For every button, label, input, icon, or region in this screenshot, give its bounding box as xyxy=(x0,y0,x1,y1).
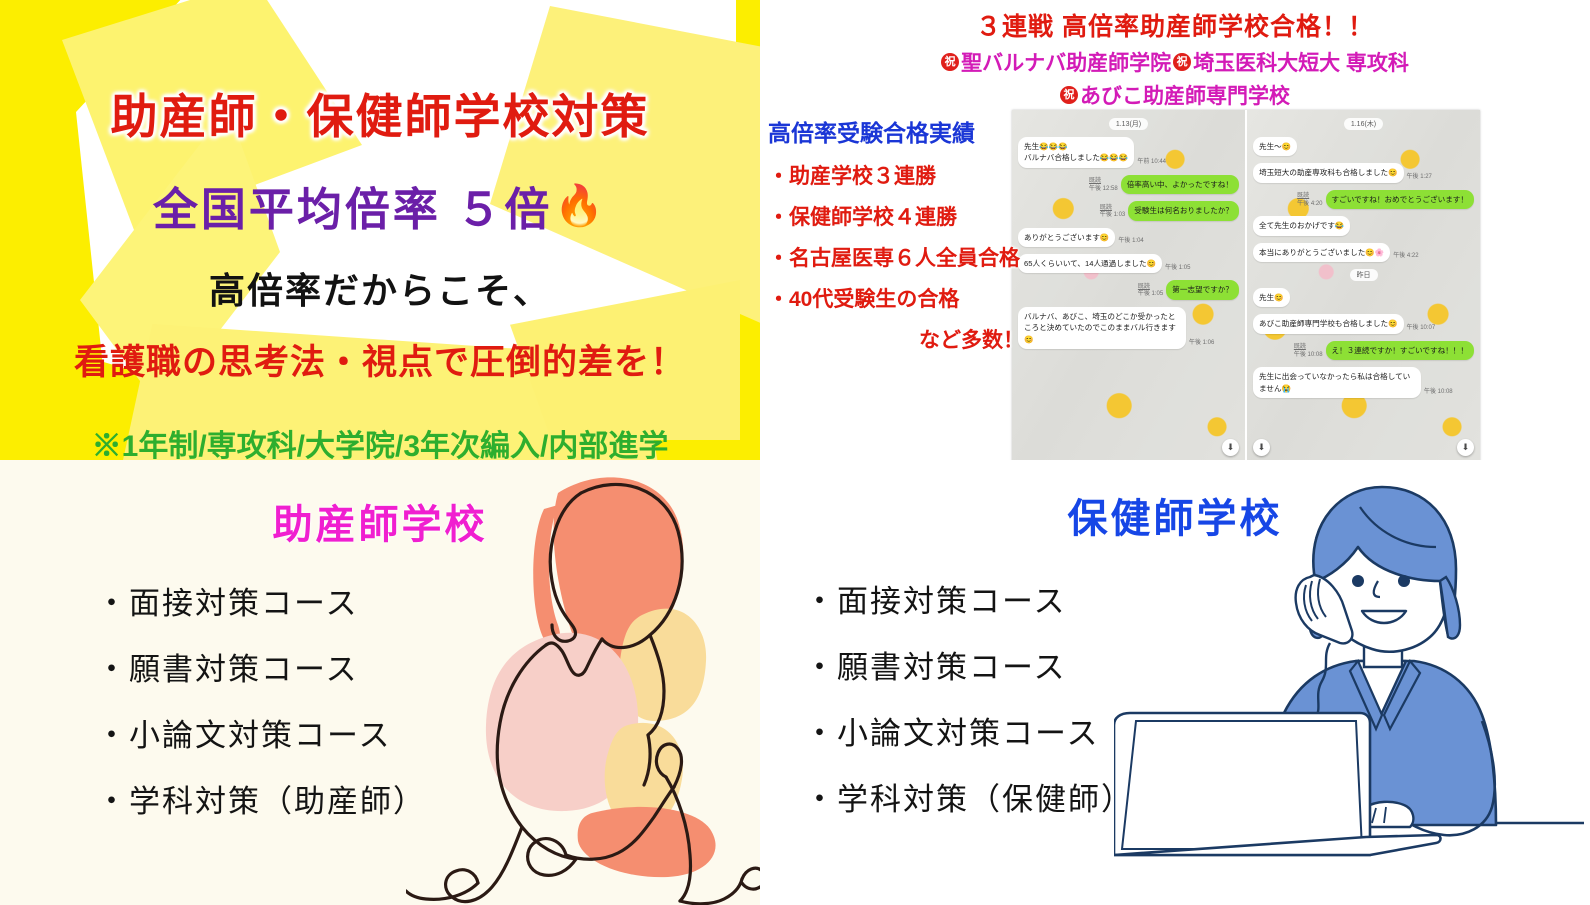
celebration-badge-icon: 祝 xyxy=(1060,86,1078,104)
chat-date-chip: 1.16(木) xyxy=(1344,118,1383,130)
chat-bubble-incoming: 先生〜😊 xyxy=(1253,137,1297,156)
chat-timestamp: 午後 1:04 xyxy=(1118,238,1143,247)
chat-bubble-incoming: 全て先生のおかげです😂 xyxy=(1253,216,1350,235)
nurse-course-list: ・面接対策コース ・願書対策コース ・小論文対策コース ・学科対策（保健師） xyxy=(760,576,1590,819)
chat-timestamp: 午後 10:07 xyxy=(1407,325,1436,334)
hero-rate-text: 全国平均倍率 ５倍 xyxy=(153,173,553,238)
chat-row: 既読 午後 1:05 第一志望ですか？ xyxy=(1018,280,1239,299)
midwife-course-list: ・面接対策コース ・願書対策コース ・小論文対策コース ・学科対策（助産師） xyxy=(0,578,760,821)
chat-meta: 既読 午後 1:03 xyxy=(1100,205,1125,221)
chat-timestamp: 午後 1:06 xyxy=(1189,340,1214,349)
chat-panel-right[interactable]: 1.16(木) 先生〜😊 埼玉短大の助産専攻科も合格しました😊 午後 1:27 … xyxy=(1247,110,1480,460)
read-receipt: 既読 xyxy=(1297,193,1322,201)
chat-timestamp: 午前 10:44 xyxy=(1137,159,1166,168)
poster-root: 助産師・保健師学校対策 全国平均倍率 ５倍 🔥 高倍率だからこそ、 看護職の思考… xyxy=(0,0,1590,905)
chat-timestamp: 午後 10:08 xyxy=(1424,389,1453,398)
chat-row: 既読 午後 10:08 え！３連続ですか！すごいですね！！！ xyxy=(1253,341,1474,360)
chat-bubble-outgoing: 倍率高い中、よかったですね！ xyxy=(1121,175,1239,194)
chat-row: 既読 午後 4:20 すごいですね！おめでとうございます！ xyxy=(1253,190,1474,209)
list-item: ・願書対策コース xyxy=(96,644,760,689)
scroll-down-icon[interactable]: ⬇ xyxy=(1253,439,1270,456)
nurse-panel: 保健師学校 ・面接対策コース ・願書対策コース ・小論文対策コース ・学科対策（… xyxy=(760,460,1590,905)
midwife-panel: 助産師学校 ・面接対策コース ・願書対策コース ・小論文対策コース ・学科対策（… xyxy=(0,460,760,905)
achievements-title: 高倍率受験合格実績 xyxy=(768,114,1030,148)
chat-meta: 既読 午後 4:20 xyxy=(1297,193,1322,209)
chat-row: 本当にありがとうございました😊🌸 午後 4:22 xyxy=(1253,243,1474,262)
chat-bubble-incoming: 先生に出会っていなかったら私は合格していません😭 xyxy=(1253,367,1421,398)
chat-row: 先生〜😊 xyxy=(1253,137,1474,156)
chat-date-chip: 昨日 xyxy=(1350,269,1378,281)
results-achievements: 高倍率受験合格実績 ・助産学校３連勝 ・保健師学校４連勝 ・名古屋医専６人全員合… xyxy=(768,114,1030,354)
chat-bubble-incoming: ありがとうございます😊 xyxy=(1018,228,1115,247)
chat-message-list-right: 1.16(木) 先生〜😊 埼玉短大の助産専攻科も合格しました😊 午後 1:27 … xyxy=(1247,110,1480,398)
achievements-list: ・助産学校３連勝 ・保健師学校４連勝 ・名古屋医専６人全員合格 ・40代受験生の… xyxy=(768,160,1030,313)
chat-timestamp: 午後 12:58 xyxy=(1089,186,1118,192)
midwife-panel-title: 助産師学校 xyxy=(0,460,760,550)
chat-timestamp: 午後 1:27 xyxy=(1407,174,1432,183)
achievements-more: など多数！ xyxy=(768,324,1030,354)
list-item: ・保健師学校４連勝 xyxy=(768,201,1030,231)
chat-date-chip: 1.13(月) xyxy=(1109,118,1148,130)
chat-screenshots: 1.13(月) 先生😂😂😂バルナバ合格しました😂😂😂 午前 10:44 既読 午… xyxy=(1012,110,1480,460)
scroll-down-icon[interactable]: ⬇ xyxy=(1222,439,1239,456)
results-body: 高倍率受験合格実績 ・助産学校３連勝 ・保健師学校４連勝 ・名古屋医専６人全員合… xyxy=(760,104,1590,456)
list-item: ・小論文対策コース xyxy=(804,708,1590,753)
read-receipt: 既読 xyxy=(1100,205,1125,213)
hero-content: 助産師・保健師学校対策 全国平均倍率 ５倍 🔥 高倍率だからこそ、 看護職の思考… xyxy=(0,0,760,460)
chat-row: 先生😊 xyxy=(1253,288,1474,307)
celebration-badge-icon: 祝 xyxy=(941,53,959,71)
chat-bubble-incoming: 先生😊 xyxy=(1253,288,1290,307)
chat-row: 先生に出会っていなかったら私は合格していません😭 午後 10:08 xyxy=(1253,367,1474,398)
list-item: ・助産学校３連勝 xyxy=(768,160,1030,190)
chat-timestamp: 午後 1:05 xyxy=(1165,265,1190,274)
chat-meta: 既読 午後 1:05 xyxy=(1138,284,1163,300)
chat-bubble-incoming: 本当にありがとうございました😊🌸 xyxy=(1253,243,1390,262)
chat-bubble-outgoing: 第一志望ですか？ xyxy=(1166,280,1239,299)
chat-row: 65人くらいいて、14人通過しました😊 午後 1:05 xyxy=(1018,254,1239,273)
read-receipt: 既読 xyxy=(1089,178,1118,186)
list-item: ・面接対策コース xyxy=(804,576,1590,621)
chat-timestamp: 午後 4:22 xyxy=(1393,253,1418,262)
fire-icon: 🔥 xyxy=(554,186,607,226)
results-headline: ３連戦 高倍率助産師学校合格！！ xyxy=(760,7,1590,43)
chat-bubble-incoming: 先生😂😂😂バルナバ合格しました😂😂😂 xyxy=(1018,137,1134,168)
chat-meta: 既読 午後 10:08 xyxy=(1294,344,1323,360)
hero-punchline: 看護職の思考法・視点で圧倒的差を！ xyxy=(26,334,734,385)
chat-timestamp: 午後 10:08 xyxy=(1294,352,1323,358)
chat-bubble-outgoing: 受験生は何名おりましたか？ xyxy=(1128,201,1239,220)
chat-bubble-incoming: バルナバ、あびこ、埼玉のどこか受かったところと決めていたのでこのままバル行きます… xyxy=(1018,307,1186,349)
chat-meta: 既読 午後 12:58 xyxy=(1089,178,1118,194)
school-name-barnabas: 聖バルナバ助産師学院 xyxy=(961,47,1171,77)
chat-timestamp: 午後 1:05 xyxy=(1138,291,1163,297)
chat-timestamp: 午後 4:20 xyxy=(1297,201,1322,207)
chat-row: 既読 午後 1:03 受験生は何名おりましたか？ xyxy=(1018,201,1239,220)
hero-rate: 全国平均倍率 ５倍 🔥 xyxy=(26,173,734,238)
chat-panel-left[interactable]: 1.13(月) 先生😂😂😂バルナバ合格しました😂😂😂 午前 10:44 既読 午… xyxy=(1012,110,1245,460)
chat-bubble-outgoing: すごいですね！おめでとうございます！ xyxy=(1326,190,1474,209)
results-schools-line-1: 祝 聖バルナバ助産師学院 祝 埼玉医科大短大 専攻科 xyxy=(760,47,1590,77)
chat-bubble-outgoing: え！３連続ですか！すごいですね！！！ xyxy=(1326,341,1474,360)
chat-bubble-incoming: 埼玉短大の助産専攻科も合格しました😊 xyxy=(1253,163,1404,182)
list-item: ・40代受験生の合格 xyxy=(768,283,1030,313)
chat-message-list-left: 1.13(月) 先生😂😂😂バルナバ合格しました😂😂😂 午前 10:44 既読 午… xyxy=(1012,110,1245,349)
chat-row: あびこ助産師専門学校も合格しました😊 午後 10:07 xyxy=(1253,314,1474,333)
chat-bubble-incoming: 65人くらいいて、14人通過しました😊 xyxy=(1018,254,1162,273)
list-item: ・願書対策コース xyxy=(804,642,1590,687)
celebration-badge-icon: 祝 xyxy=(1173,53,1191,71)
chat-row: バルナバ、あびこ、埼玉のどこか受かったところと決めていたのでこのままバル行きます… xyxy=(1018,307,1239,349)
read-receipt: 既読 xyxy=(1294,344,1323,352)
hero-title: 助産師・保健師学校対策 xyxy=(26,78,734,147)
chat-row: 全て先生のおかげです😂 xyxy=(1253,216,1474,235)
chat-timestamp: 午後 1:03 xyxy=(1100,212,1125,218)
list-item: ・名古屋医専６人全員合格 xyxy=(768,242,1030,272)
nurse-panel-title: 保健師学校 xyxy=(760,460,1590,544)
scroll-down-icon[interactable]: ⬇ xyxy=(1457,439,1474,456)
chat-row: 既読 午後 12:58 倍率高い中、よかったですね！ xyxy=(1018,175,1239,194)
school-name-saitama: 埼玉医科大短大 専攻科 xyxy=(1193,47,1409,77)
chat-row: 先生😂😂😂バルナバ合格しました😂😂😂 午前 10:44 xyxy=(1018,137,1239,168)
chat-bubble-incoming: あびこ助産師専門学校も合格しました😊 xyxy=(1253,314,1404,333)
hero-panel: 助産師・保健師学校対策 全国平均倍率 ５倍 🔥 高倍率だからこそ、 看護職の思考… xyxy=(0,0,760,460)
list-item: ・小論文対策コース xyxy=(96,710,760,755)
hero-note: ※1年制/専攻科/大学院/3年次編入/内部進学 xyxy=(26,421,734,460)
list-item: ・学科対策（助産師） xyxy=(96,776,760,821)
hero-subtitle: 高倍率だからこそ、 xyxy=(26,262,734,314)
results-panel: ３連戦 高倍率助産師学校合格！！ 祝 聖バルナバ助産師学院 祝 埼玉医科大短大 … xyxy=(760,0,1590,460)
list-item: ・面接対策コース xyxy=(96,578,760,623)
chat-row: 埼玉短大の助産専攻科も合格しました😊 午後 1:27 xyxy=(1253,163,1474,182)
chat-row: ありがとうございます😊 午後 1:04 xyxy=(1018,228,1239,247)
list-item: ・学科対策（保健師） xyxy=(804,774,1590,819)
results-header: ３連戦 高倍率助産師学校合格！！ 祝 聖バルナバ助産師学院 祝 埼玉医科大短大 … xyxy=(760,0,1590,110)
